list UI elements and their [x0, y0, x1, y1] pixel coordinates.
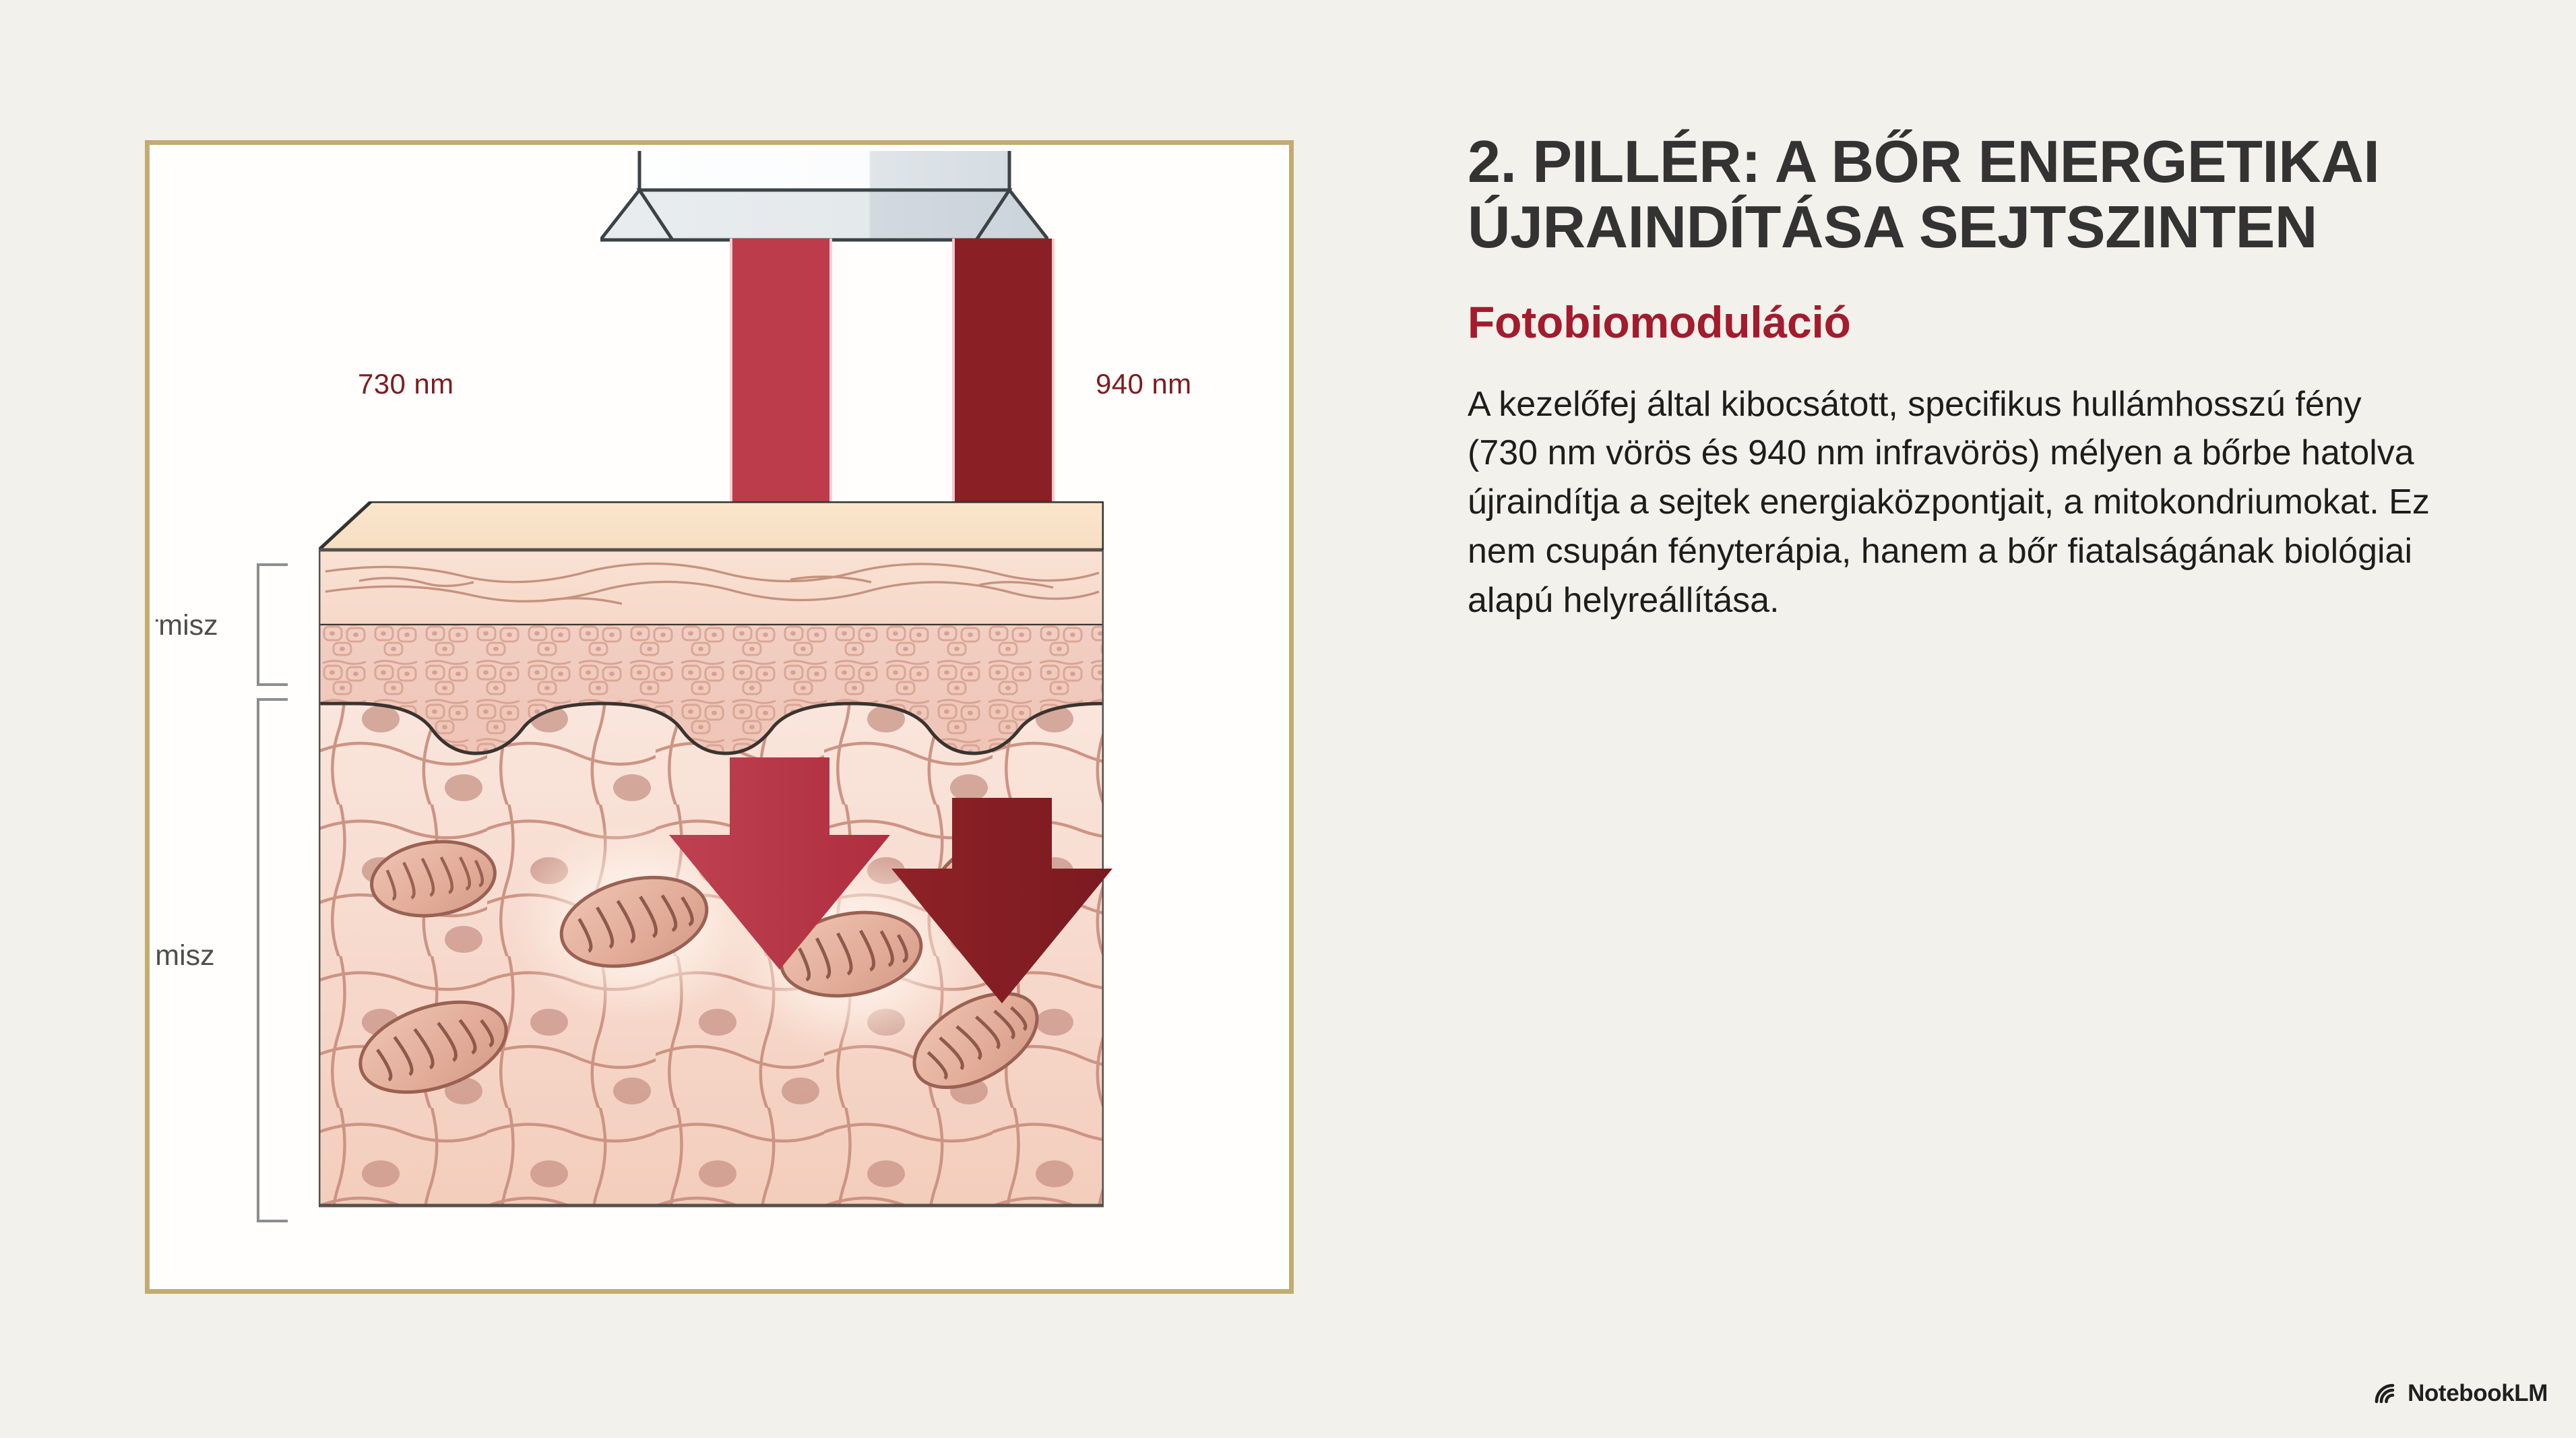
dermis-bracket: [257, 698, 288, 1222]
layer-label-epidermis: Epidermisz: [156, 609, 218, 642]
epidermis-bracket: [257, 563, 288, 686]
skin-cross-section-diagram: [319, 501, 1104, 1226]
illustration-frame: 730 nm 940 nm: [145, 140, 1294, 1294]
notebooklm-label: NotebookLM: [2408, 1380, 2548, 1407]
notebooklm-watermark: NotebookLM: [2375, 1380, 2548, 1407]
body-paragraph: A kezelőfej által kibocsátott, specifiku…: [1468, 380, 2438, 625]
notebooklm-spiral-icon: [2375, 1383, 2399, 1404]
text-content-column: 2. PILLÉR: A BŐR ENERGETIKAI ÚJRAINDÍTÁS…: [1468, 129, 2458, 625]
section-subtitle: Fotobiomoduláció: [1468, 298, 2458, 348]
treatment-head-icon: [600, 151, 1048, 244]
beam-label-730nm: 730 nm: [358, 368, 454, 400]
layer-label-dermis: Dermisz: [156, 939, 215, 972]
illustration-panel: 730 nm 940 nm: [156, 151, 1283, 1283]
page-title: 2. PILLÉR: A BŐR ENERGETIKAI ÚJRAINDÍTÁS…: [1468, 129, 2458, 260]
beam-label-940nm: 940 nm: [1096, 368, 1192, 400]
